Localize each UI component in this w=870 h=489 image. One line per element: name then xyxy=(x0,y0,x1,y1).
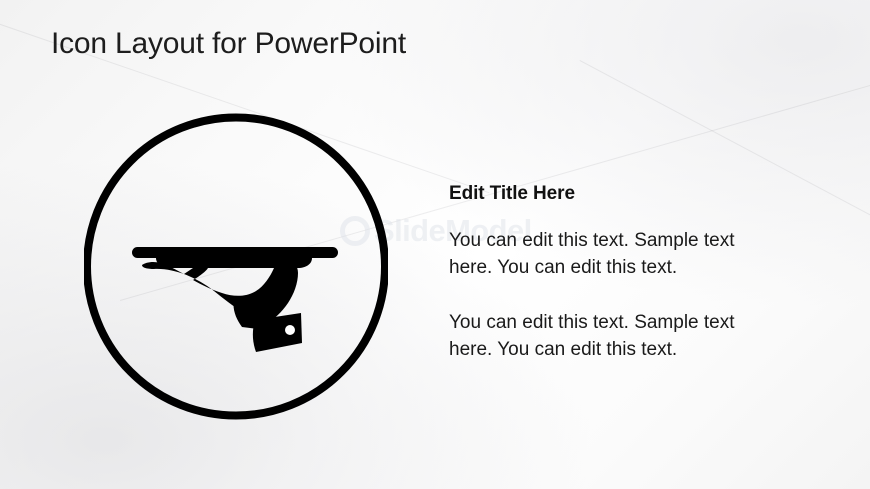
content-paragraph: You can edit this text. Sample text here… xyxy=(449,310,779,364)
slide-canvas: Icon Layout for PowerPoint SlideModel Ed… xyxy=(0,0,870,489)
cuff-button-icon xyxy=(285,325,295,335)
tray-shape xyxy=(132,247,338,258)
content-paragraph: You can edit this text. Sample text here… xyxy=(449,228,779,282)
hand-and-forearm-shape xyxy=(142,260,298,325)
content-text-block: Edit Title Here You can edit this text. … xyxy=(449,183,779,364)
content-heading: Edit Title Here xyxy=(449,183,779,206)
waiter-hand-holding-tray-icon[interactable] xyxy=(84,113,388,420)
slide-title: Icon Layout for PowerPoint xyxy=(51,27,406,61)
